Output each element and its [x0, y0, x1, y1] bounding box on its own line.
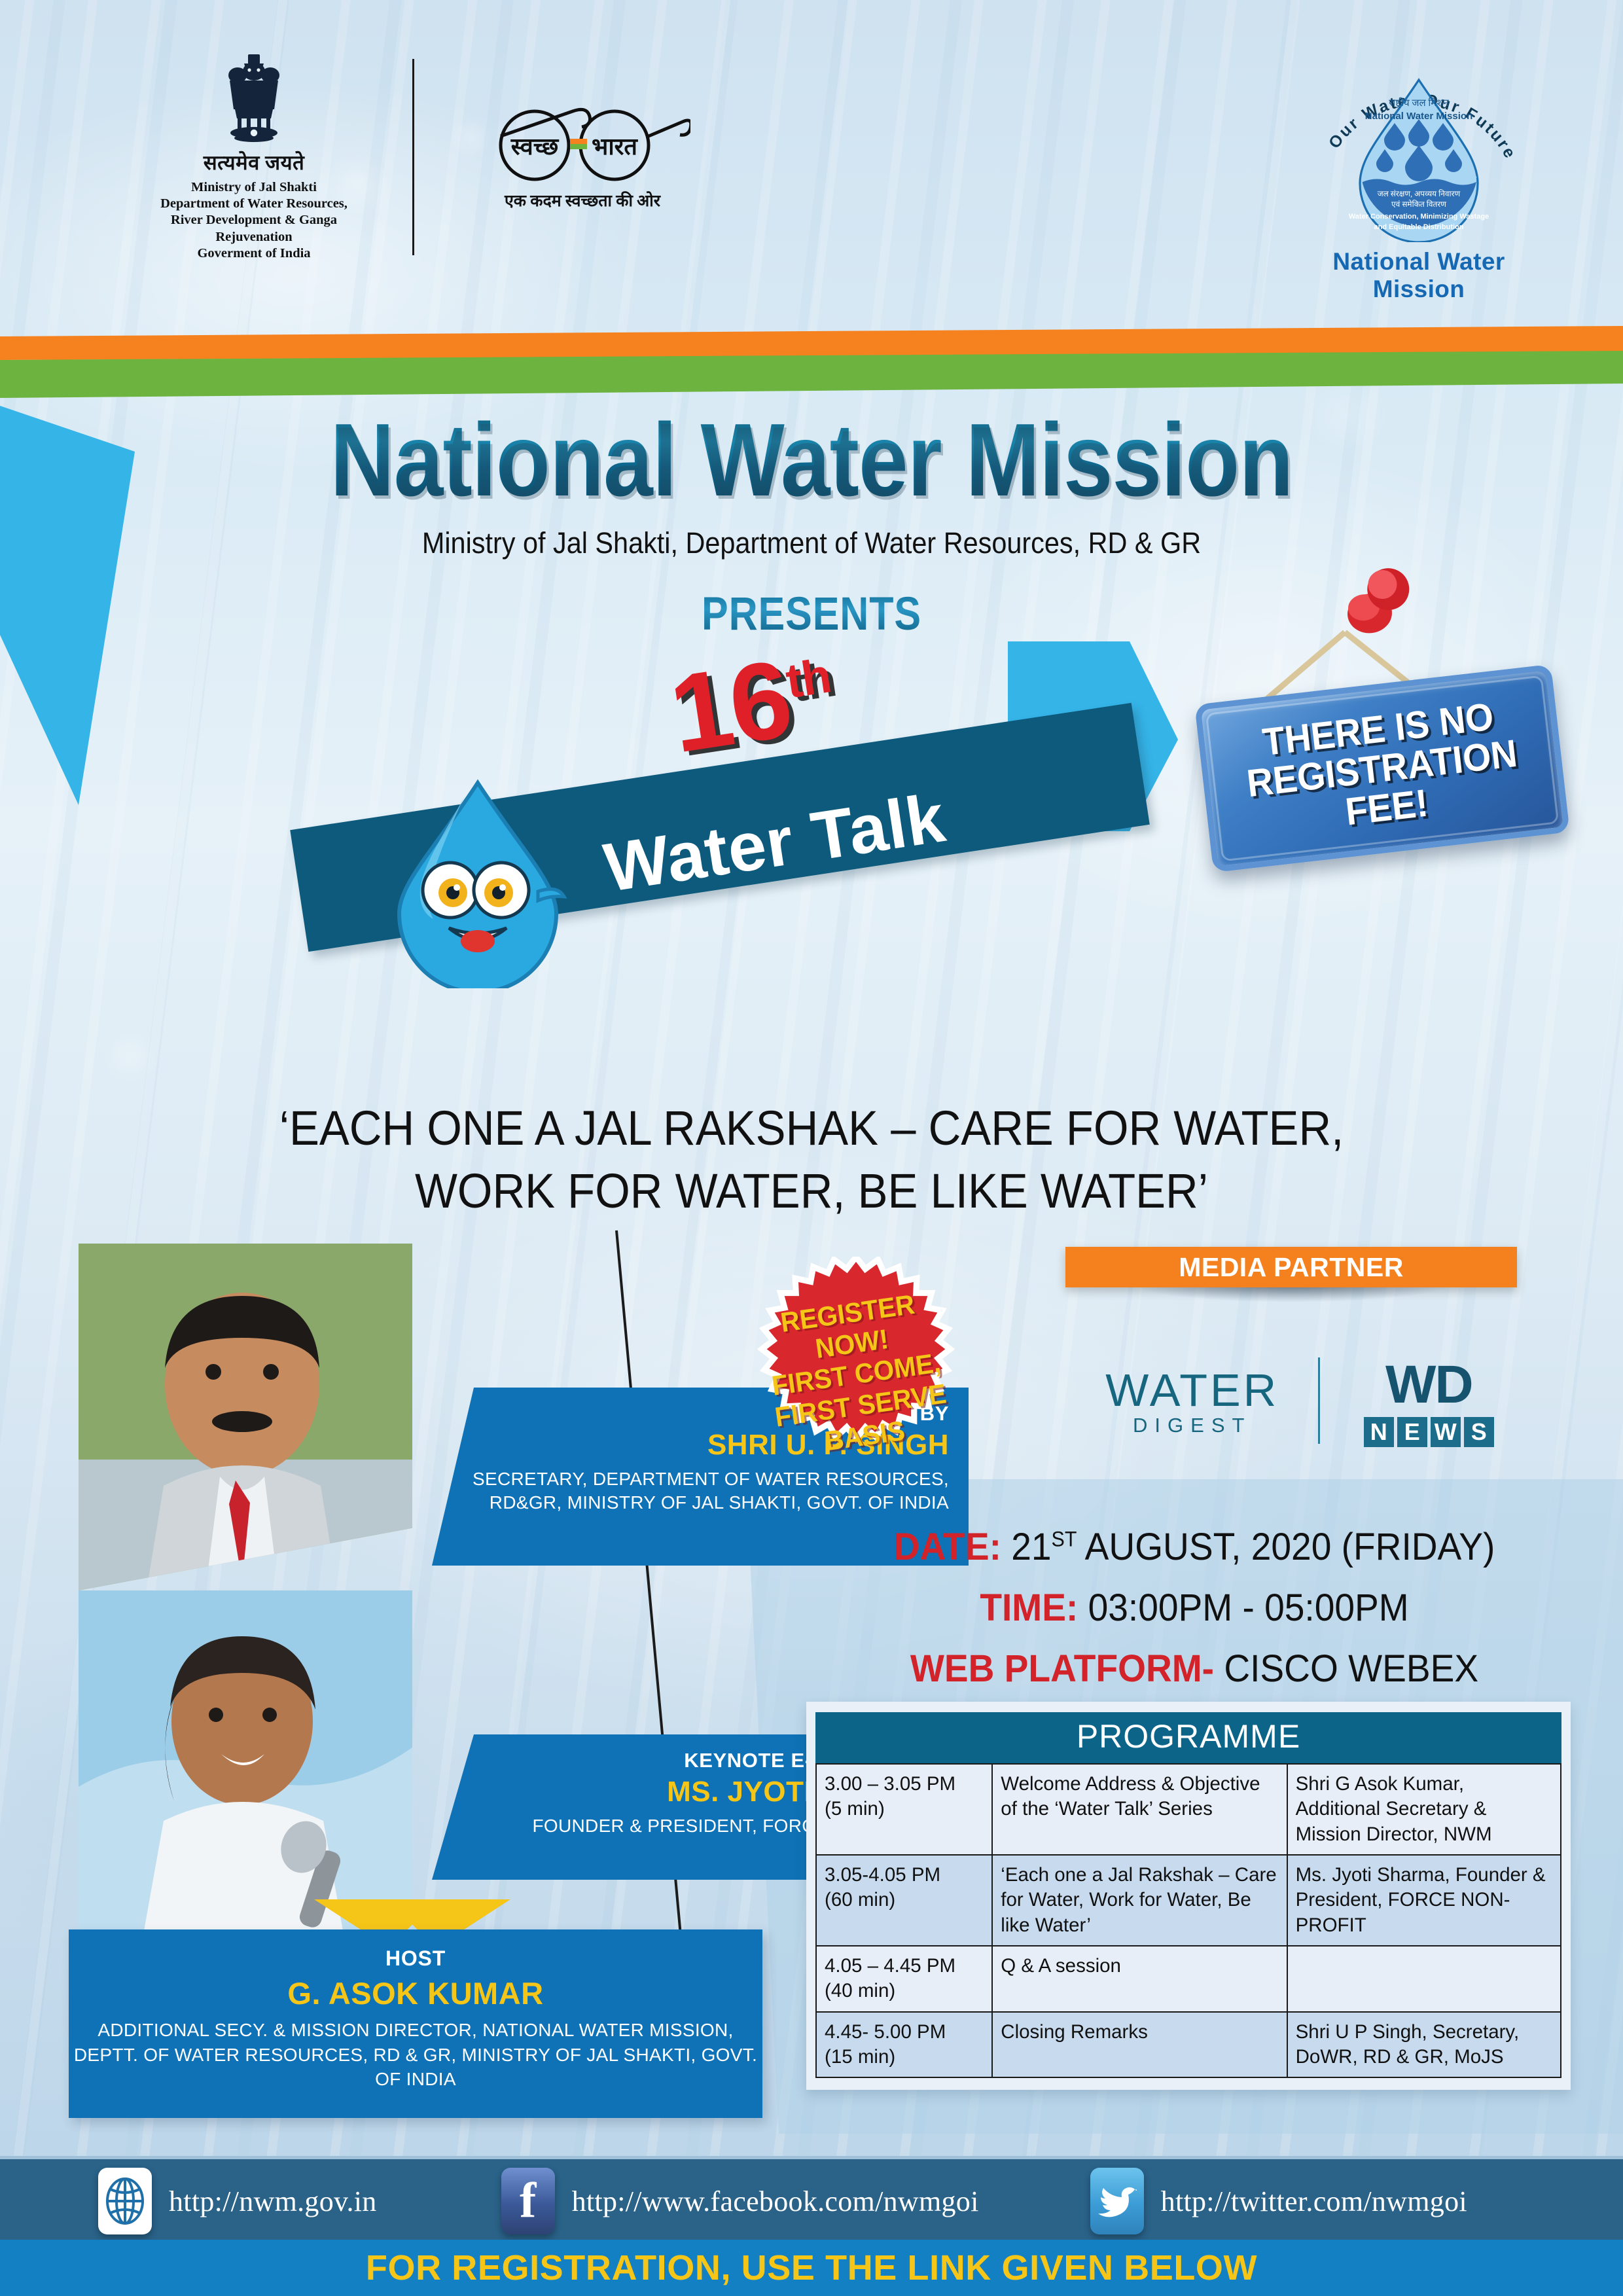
event-date-row: DATE: 21ST AUGUST, 2020 (FRIDAY): [849, 1525, 1540, 1569]
ministry-line-1: Ministry of Jal Shakti: [156, 179, 352, 196]
water-talk-banner: Water Talk 16th: [340, 648, 1191, 1041]
platform-value: CISCO WEBEX: [1224, 1647, 1478, 1690]
wd-news-letter: N: [1364, 1417, 1394, 1447]
host-description: ADDITIONAL SECY. & MISSION DIRECTOR, NAT…: [69, 2018, 762, 2092]
table-cell: 4.45- 5.00 PM (15 min): [816, 2012, 992, 2078]
table-cell: [1287, 1946, 1561, 2012]
footer-website-item[interactable]: http://nwm.gov.in: [98, 2168, 377, 2234]
event-details: DATE: 21ST AUGUST, 2020 (FRIDAY) TIME: 0…: [831, 1525, 1558, 1708]
bharat-word: भारत: [592, 134, 638, 160]
svg-text:Water Conservation, Minimizing: Water Conservation, Minimizing Wastage: [1349, 213, 1489, 221]
host-role: HOST: [69, 1946, 762, 1971]
ministry-line-2: Department of Water Resources,: [156, 196, 352, 212]
event-platform-row: WEB PLATFORM- CISCO WEBEX: [849, 1647, 1540, 1691]
host-card: HOST G. ASOK KUMAR ADDITIONAL SECY. & MI…: [69, 1929, 762, 2118]
table-cell: Closing Remarks: [992, 2012, 1287, 2078]
table-row: 3.00 – 3.05 PM (5 min)Welcome Address & …: [816, 1764, 1561, 1855]
svg-text:and Equitable Distribution: and Equitable Distribution: [1374, 223, 1464, 231]
facebook-icon: f: [501, 2168, 555, 2234]
wd-news-letter: E: [1397, 1417, 1427, 1447]
host-name: G. ASOK KUMAR: [69, 1975, 762, 2011]
table-cell: Ms. Jyoti Sharma, Founder & President, F…: [1287, 1855, 1561, 1946]
ashoka-emblem-icon: [215, 49, 293, 147]
globe-icon: [98, 2168, 152, 2234]
water-droplet-mascot-icon: [366, 772, 589, 988]
svg-text:जल संरक्षण, अपव्यय निवारण: जल संरक्षण, अपव्यय निवारण: [1378, 189, 1461, 198]
table-cell: Q & A session: [992, 1946, 1287, 2012]
footer-twitter-item[interactable]: http://twitter.com/nwmgoi: [1090, 2168, 1467, 2234]
poster-header: सत्यमेव जयते Ministry of Jal Shakti Depa…: [0, 0, 1623, 327]
programme-table: 3.00 – 3.05 PM (5 min)Welcome Address & …: [815, 1763, 1561, 2078]
date-rest: AUGUST, 2020 (FRIDAY): [1077, 1526, 1495, 1568]
svg-text:एवं समेकित वितरण: एवं समेकित वितरण: [1391, 200, 1446, 209]
register-now-badge[interactable]: REGISTER NOW! FIRST COME, FIRST SERVE BA…: [725, 1257, 987, 1492]
wd-news-letter: W: [1431, 1417, 1461, 1447]
programme-panel: PROGRAMME 3.00 – 3.05 PM (5 min)Welcome …: [806, 1702, 1571, 2090]
table-cell: ‘Each one a Jal Rakshak – Care for Water…: [992, 1855, 1287, 1946]
ministry-line-3: River Development & Ganga Rejuvenation: [156, 212, 352, 245]
mascot-tongue: [461, 930, 495, 952]
date-label: DATE:: [894, 1526, 1001, 1568]
water-digest-bottom: DIGEST: [1067, 1414, 1318, 1437]
wd-news-logo: WD N E W S: [1320, 1354, 1538, 1447]
nwm-droplet-icon: Our Water Our Future राष्ट्रीय जल मिशन N…: [1311, 46, 1527, 242]
edition-number: 16th: [662, 628, 842, 778]
table-cell: 3.00 – 3.05 PM (5 min): [816, 1764, 992, 1855]
header-divider: [412, 59, 414, 255]
page-title: National Water Mission: [114, 408, 1510, 512]
date-day: 21: [1011, 1526, 1051, 1568]
swachh-word: स्वच्छ: [510, 134, 560, 160]
swachh-bharat-logo: स्वच्छ भारत एक कदम स्वच्छता की ओर: [452, 105, 713, 211]
table-cell: Welcome Address & Objective of the ‘Wate…: [992, 1764, 1287, 1855]
platform-label: WEB PLATFORM-: [910, 1647, 1214, 1690]
tagline-line-1: ‘EACH ONE A JAL RAKSHAK – CARE FOR WATER…: [57, 1097, 1566, 1160]
edition-suffix: th: [782, 648, 834, 708]
programme-title: PROGRAMME: [815, 1712, 1561, 1763]
twitter-bird-icon: [1090, 2168, 1144, 2234]
ministry-line-4: Goverment of India: [156, 245, 352, 262]
hero-subtitle: Ministry of Jal Shakti, Department of Wa…: [65, 526, 1558, 560]
poster-root: सत्यमेव जयते Ministry of Jal Shakti Depa…: [0, 0, 1623, 2296]
table-row: 3.05-4.05 PM (60 min)‘Each one a Jal Rak…: [816, 1855, 1561, 1946]
table-cell: Shri G Asok Kumar, Additional Secretary …: [1287, 1764, 1561, 1855]
table-row: 4.05 – 4.45 PM (40 min)Q & A session: [816, 1946, 1561, 2012]
registration-cta-banner: FOR REGISTRATION, USE THE LINK GIVEN BEL…: [0, 2240, 1623, 2296]
table-cell: 3.05-4.05 PM (60 min): [816, 1855, 992, 1946]
website-url[interactable]: http://nwm.gov.in: [169, 2185, 377, 2218]
photo-u-p-singh: [79, 1244, 412, 1590]
water-digest-top: WATER: [1067, 1364, 1318, 1416]
table-cell: Shri U P Singh, Secretary, DoWR, RD & GR…: [1287, 2012, 1561, 2078]
nwm-logo-name: National Water Mission: [1301, 248, 1537, 303]
national-water-mission-logo: Our Water Our Future राष्ट्रीय जल मिशन N…: [1301, 46, 1537, 303]
footer-facebook-item[interactable]: f http://www.facebook.com/nwmgoi: [501, 2168, 979, 2234]
government-emblem-block: सत्यमेव जयते Ministry of Jal Shakti Depa…: [156, 49, 352, 262]
time-label: TIME:: [980, 1587, 1078, 1629]
swachh-bharat-glasses-icon: स्वच्छ भारत: [474, 105, 690, 183]
media-partner-bar: MEDIA PARTNER: [1065, 1247, 1517, 1287]
media-partner-logos: WATER DIGEST WD N E W S: [1067, 1342, 1538, 1460]
push-pin-icon: [1331, 560, 1425, 654]
table-cell: 4.05 – 4.45 PM (40 min): [816, 1946, 992, 2012]
wd-news-top: WD: [1320, 1354, 1538, 1416]
swachh-bharat-caption: एक कदम स्वच्छता की ओर: [452, 189, 713, 211]
svg-text:राष्ट्रीय जल मिशन: राष्ट्रीय जल मिशन: [1389, 97, 1449, 109]
footer-social-bar: http://nwm.gov.in f http://www.facebook.…: [0, 2156, 1623, 2243]
twitter-url[interactable]: http://twitter.com/nwmgoi: [1161, 2185, 1467, 2218]
event-time-row: TIME: 03:00PM - 05:00PM: [849, 1586, 1540, 1630]
media-partner-shadow: [1065, 1287, 1517, 1319]
tagline-line-2: WORK FOR WATER, BE LIKE WATER’: [57, 1160, 1566, 1223]
water-digest-logo: WATER DIGEST: [1067, 1364, 1318, 1437]
date-suffix: ST: [1052, 1528, 1077, 1551]
facebook-url[interactable]: http://www.facebook.com/nwmgoi: [572, 2185, 979, 2218]
event-tagline: ‘EACH ONE A JAL RAKSHAK – CARE FOR WATER…: [57, 1097, 1566, 1223]
wd-news-letter: S: [1464, 1417, 1494, 1447]
satyamev-jayate-text: सत्यमेव जयते: [156, 149, 352, 176]
edition-number-value: 16: [662, 637, 798, 776]
table-row: 4.45- 5.00 PM (15 min)Closing RemarksShr…: [816, 2012, 1561, 2078]
time-value: 03:00PM - 05:00PM: [1088, 1587, 1409, 1629]
fee-line-3: FEE!: [1344, 783, 1430, 832]
photo-jyoti-sharma: [79, 1590, 412, 1931]
wd-news-letters: N E W S: [1320, 1417, 1538, 1447]
